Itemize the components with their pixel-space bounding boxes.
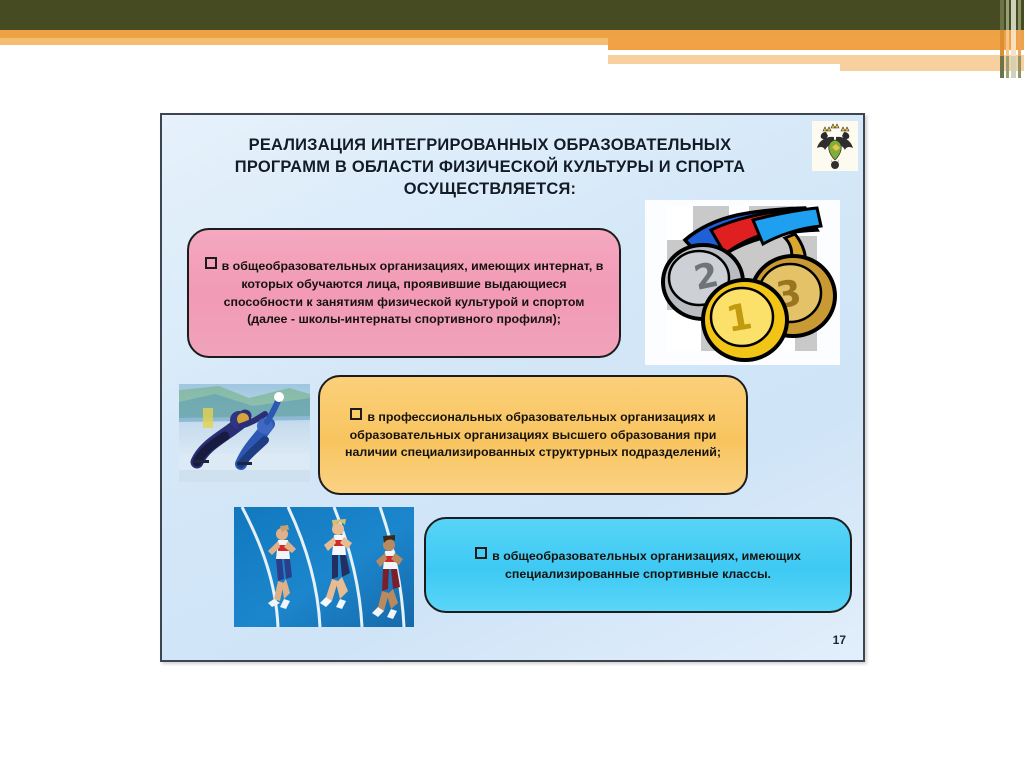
header-white-notch	[608, 64, 840, 72]
presentation-slide: РЕАЛИЗАЦИЯ ИНТЕГРИРОВАННЫХ ОБРАЗОВАТЕЛЬН…	[160, 113, 865, 662]
slide-title: РЕАЛИЗАЦИЯ ИНТЕГРИРОВАННЫХ ОБРАЗОВАТЕЛЬН…	[186, 135, 794, 201]
slide-title-line-3: ОСУЩЕСТВЛЯЕТСЯ:	[186, 179, 794, 201]
header-vertical-stripe-orange-3	[1011, 30, 1016, 56]
header-orange-band	[0, 30, 1024, 38]
header-vertical-stripe-orange-2	[1006, 30, 1009, 56]
track-running-photo	[234, 507, 414, 627]
text-box-pink-text: в общеобразовательных организациях, имею…	[222, 259, 604, 326]
text-box-blue-text: в общеобразовательных организациях, имею…	[492, 549, 801, 581]
decorative-header	[0, 0, 1024, 78]
russian-coat-of-arms-icon	[812, 121, 858, 171]
text-box-yellow: в профессиональных образовательных орган…	[318, 375, 748, 495]
header-peach-band	[608, 55, 1024, 64]
slide-title-line-2: ПРОГРАММ В ОБЛАСТИ ФИЗИЧЕСКОЙ КУЛЬТУРЫ И…	[186, 157, 794, 179]
text-box-pink-content: в общеобразовательных организациях, имею…	[189, 257, 619, 328]
speed-skating-photo	[179, 384, 310, 482]
page-number: 17	[833, 633, 846, 647]
text-box-yellow-text: в профессиональных образовательных орган…	[345, 410, 721, 459]
text-box-blue-content: в общеобразовательных организациях, имею…	[426, 547, 850, 583]
bullet-square-icon	[350, 408, 362, 420]
header-orange-accent	[608, 38, 1024, 50]
bullet-square-icon	[475, 547, 487, 559]
slide-title-line-1: РЕАЛИЗАЦИЯ ИНТЕГРИРОВАННЫХ ОБРАЗОВАТЕЛЬН…	[186, 135, 794, 157]
header-vertical-stripe-orange-1	[1000, 30, 1004, 56]
header-olive-band	[0, 0, 1024, 30]
text-box-pink: в общеобразовательных организациях, имею…	[187, 228, 621, 358]
bullet-square-icon	[205, 257, 217, 269]
sport-medals-clipart: 2 3 1	[645, 200, 840, 365]
text-box-blue: в общеобразовательных организациях, имею…	[424, 517, 852, 613]
header-peach-band-lower	[840, 64, 1024, 71]
header-vertical-stripe-orange-4	[1018, 30, 1021, 56]
text-box-yellow-content: в профессиональных образовательных орган…	[320, 408, 746, 462]
